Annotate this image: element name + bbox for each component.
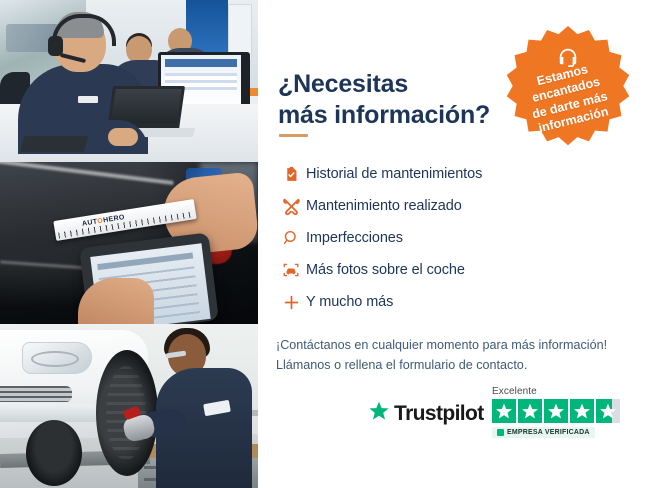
feature-label: Historial de mantenimientos	[306, 166, 482, 182]
contact-line-1: ¡Contáctanos en cualquier momento para m…	[276, 338, 607, 352]
verified-check-icon	[497, 429, 504, 436]
trustpilot-wordmark: Trustpilot	[394, 402, 484, 426]
feature-label: Mantenimiento realizado	[306, 198, 462, 214]
maintenance-history-icon	[276, 163, 306, 185]
verified-label: EMPRESA VERIFICADA	[507, 429, 590, 436]
headline-line-1: ¿Necesitas	[278, 70, 408, 98]
rating-star	[518, 399, 542, 423]
tools-cross-icon	[276, 195, 306, 217]
car-headlight	[22, 342, 92, 374]
magnifier-icon	[276, 227, 306, 249]
trustpilot-rating-label: Excelente	[492, 386, 624, 397]
feature-label: Y mucho más	[306, 294, 393, 310]
promo-card: AUTOHERO	[0, 0, 650, 488]
trustpilot-rating: Excelente	[492, 386, 624, 441]
title-divider	[279, 134, 308, 137]
car-inspection-ruler-tablet-photo: AUTOHERO	[0, 162, 258, 324]
trustpilot-logo[interactable]: Trustpilot	[368, 400, 484, 427]
agent-name-badge	[78, 96, 98, 103]
contact-line-2: Llámanos o rellena el formulario de cont…	[276, 358, 527, 372]
feature-item: Mantenimiento realizado	[276, 190, 616, 222]
trustpilot-block[interactable]: Trustpilot Excelente	[368, 386, 628, 448]
feature-item: Historial de mantenimientos	[276, 158, 616, 190]
feature-list: Historial de mantenimientos Mantenimient…	[276, 158, 616, 318]
feature-item: Imperfecciones	[276, 222, 616, 254]
trustpilot-star-icon	[368, 400, 390, 427]
headline-line-2: más información?	[278, 101, 490, 129]
desk-tablet	[20, 136, 89, 152]
laptop-screen	[111, 89, 182, 123]
plus-icon	[276, 291, 306, 313]
feature-label: Imperfecciones	[306, 230, 403, 246]
feature-item: Más fotos sobre el coche	[276, 254, 616, 286]
contact-paragraph: ¡Contáctanos en cualquier momento para m…	[276, 335, 632, 376]
rating-star	[570, 399, 594, 423]
car-grille	[0, 386, 72, 402]
feature-item: Y mucho más	[276, 286, 616, 318]
agent-hand	[108, 128, 138, 146]
rating-star	[492, 399, 516, 423]
verified-company-badge: EMPRESA VERIFICADA	[492, 427, 595, 438]
mechanic-wheel-inspection-photo	[0, 324, 258, 488]
rating-star-partial	[596, 399, 620, 423]
support-badge: Estamos encantados de darte más informac…	[506, 26, 630, 150]
content-panel: ¿Necesitas más información? Estamos enca…	[258, 0, 650, 488]
photo-column: AUTOHERO	[0, 0, 258, 488]
page-title: ¿Necesitas más información?	[278, 69, 528, 131]
rear-tire	[26, 420, 82, 486]
feature-label: Más fotos sobre el coche	[306, 262, 465, 278]
car-photo-frame-icon	[276, 259, 306, 281]
call-center-agent-headset-photo	[0, 0, 258, 162]
rating-star	[544, 399, 568, 423]
trustpilot-star-rating	[492, 399, 624, 423]
